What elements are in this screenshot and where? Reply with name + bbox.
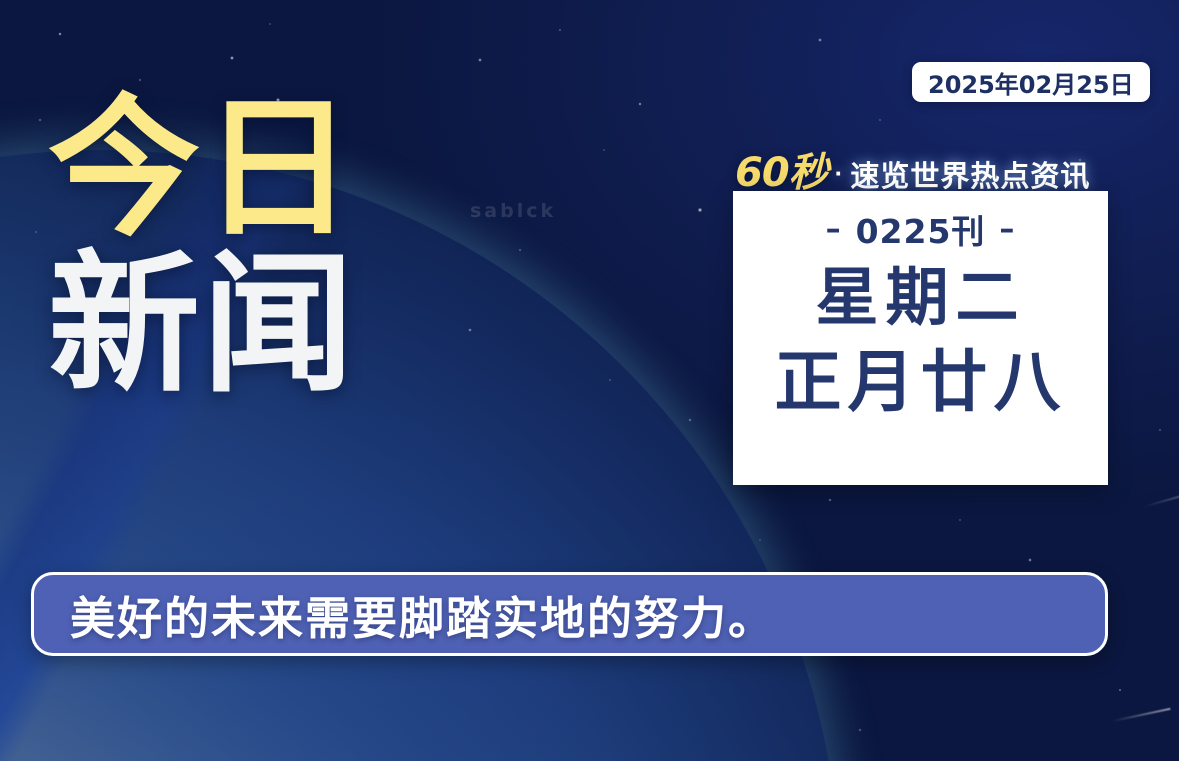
quote-banner: 美好的未来需要脚踏实地的努力。	[31, 572, 1108, 656]
issue-dash-right: –	[999, 212, 1015, 247]
info-card: – 0225刊 – 星期二 正月廿八	[733, 191, 1108, 485]
issue-dash-left: –	[826, 212, 842, 247]
star-streak-icon	[1111, 708, 1170, 722]
tagline: 60秒 · 速览世界热点资讯	[735, 140, 1090, 198]
page-title-line2: 新闻	[48, 252, 518, 398]
issue-number-row: – 0225刊 –	[826, 205, 1016, 253]
tagline-seconds: 60秒	[735, 140, 828, 198]
tagline-separator: ·	[835, 158, 844, 189]
date-badge: 2025年02月25日	[912, 62, 1150, 102]
date-badge-label: 2025年02月25日	[928, 65, 1134, 100]
lunar-date-label: 正月廿八	[775, 347, 1067, 417]
news-poster: sablck 2025年02月25日 今日 新闻 60秒 · 速览世界热点资讯 …	[0, 0, 1179, 761]
weekday-label: 星期二	[816, 265, 1026, 331]
issue-number: 0225刊	[856, 205, 986, 253]
quote-text: 美好的未来需要脚踏实地的努力。	[70, 582, 775, 647]
tagline-text: 速览世界热点资讯	[850, 153, 1090, 195]
page-title-line1: 今日	[48, 96, 518, 242]
star-streak-secondary-icon	[1144, 494, 1179, 507]
page-title: 今日 新闻	[48, 96, 518, 398]
